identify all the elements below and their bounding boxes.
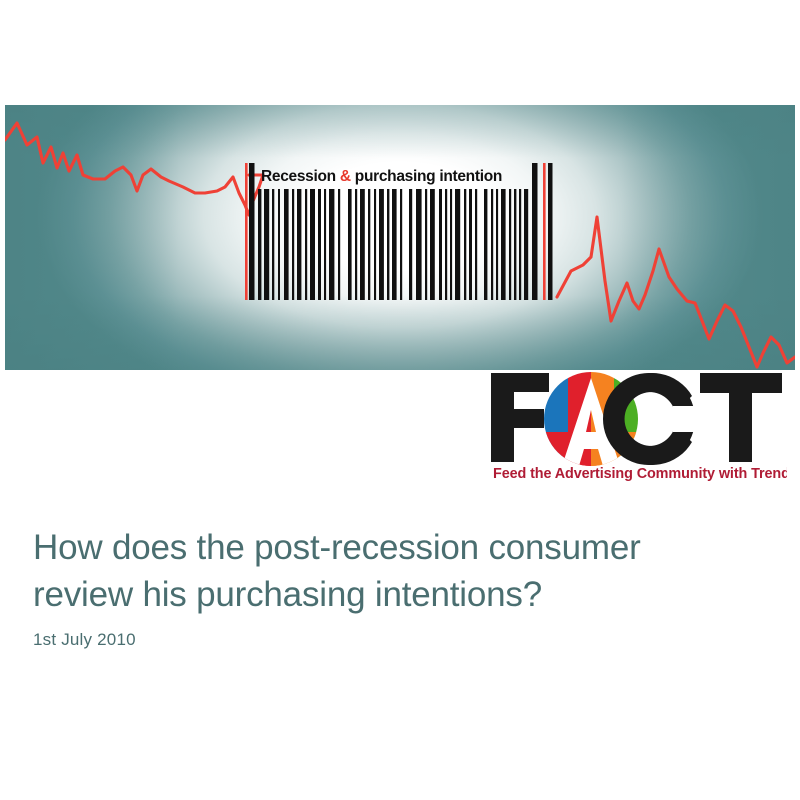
slide-date: 1st July 2010 — [33, 630, 136, 650]
page-title-line-1: How does the post-recession consumer — [33, 524, 753, 571]
logo-letter-c — [603, 373, 701, 465]
presentation-slide: Recession & purchasing intention — [0, 0, 800, 800]
fact-logo-artwork: Feed the Advertising Community with Tren… — [487, 370, 787, 482]
declining-trend-line-right — [557, 217, 795, 367]
logo-letter-t — [700, 373, 782, 462]
barcode-graphic: Recession & purchasing intention — [243, 163, 555, 300]
logo-letter-f — [491, 373, 549, 462]
barcode-caption-text: Recession & purchasing intention — [261, 166, 541, 188]
page-title-line-2: review his purchasing intentions? — [33, 571, 753, 618]
logo-tagline: Feed the Advertising Community with Tren… — [493, 466, 787, 482]
caption-text-part1: Recession — [261, 168, 340, 185]
caption-ampersand: & — [340, 168, 351, 185]
page-title: How does the post-recession consumer rev… — [33, 524, 753, 618]
caption-text-part2: purchasing intention — [351, 168, 502, 185]
declining-trend-line-left — [5, 123, 263, 215]
fact-logo: Feed the Advertising Community with Tren… — [487, 370, 787, 482]
